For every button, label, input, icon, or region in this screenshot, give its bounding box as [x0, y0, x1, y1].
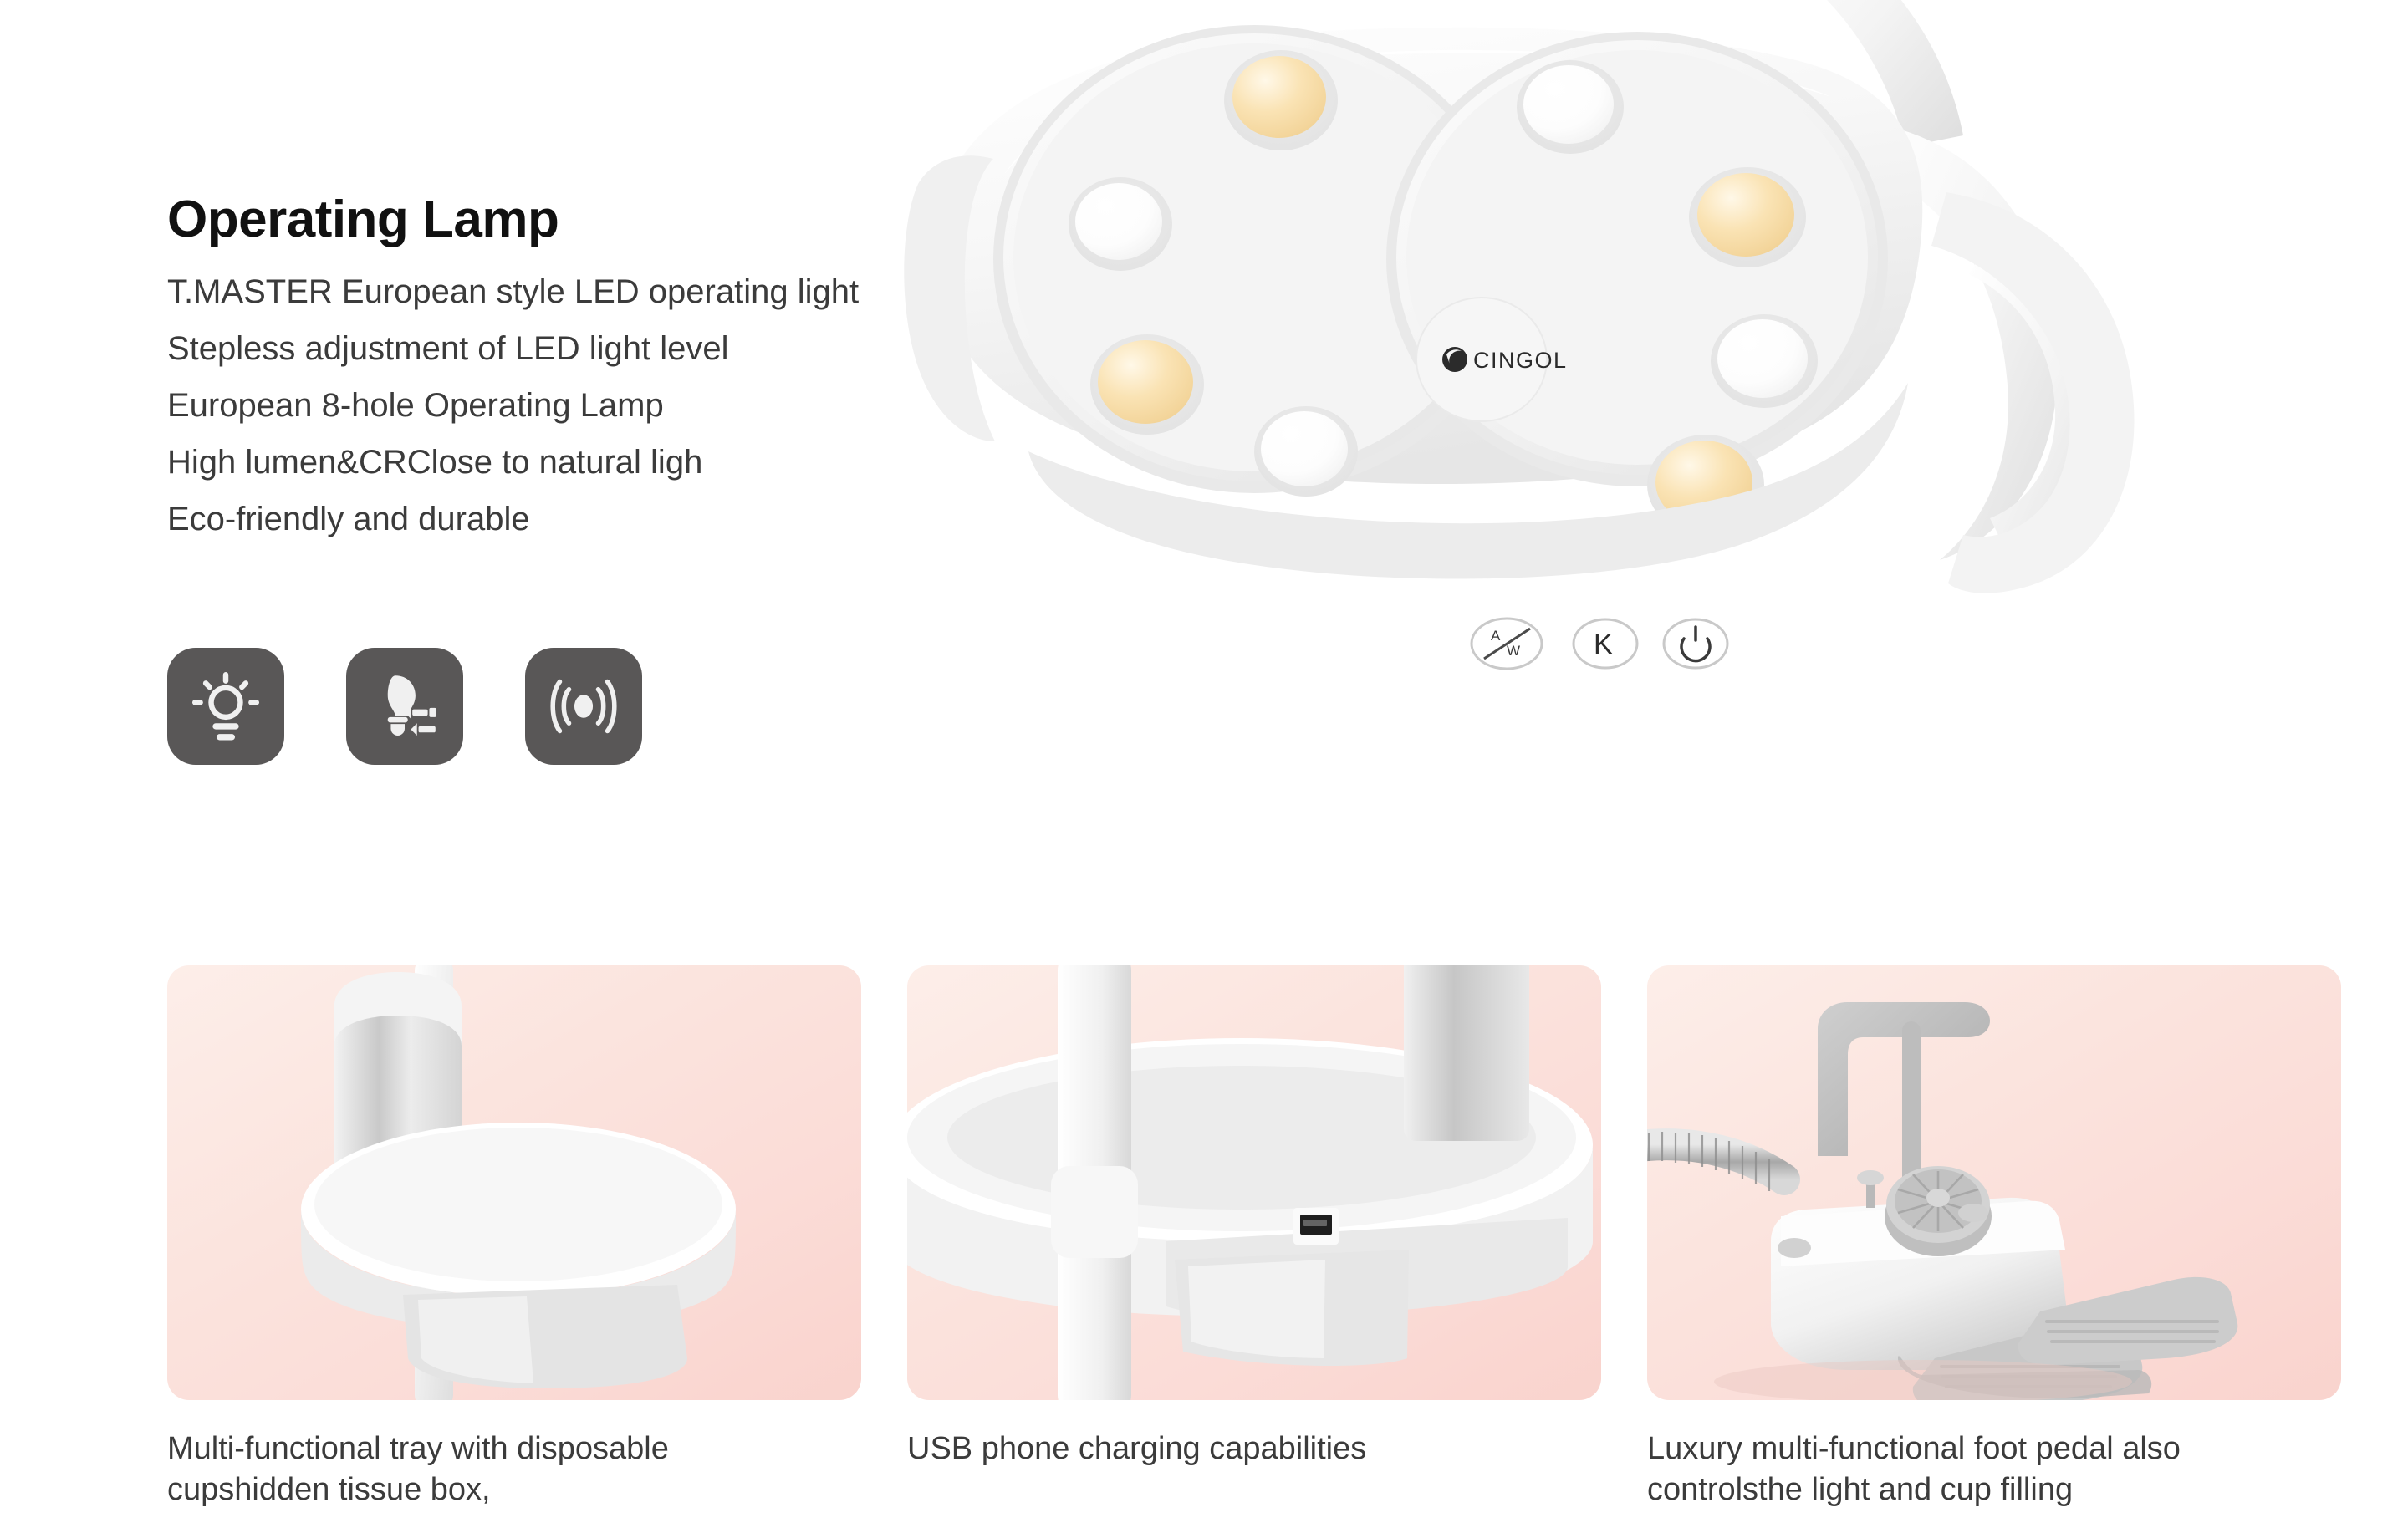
svg-text:K: K — [1594, 629, 1613, 660]
motion-sensor-icon — [525, 648, 642, 765]
feature-item: High lumen&CRClose to natural ligh — [167, 446, 1003, 479]
feature-list: T.MASTER European style LED operating li… — [167, 275, 1003, 536]
operating-lamp-photo: CINGOL A W K — [903, 0, 2408, 919]
info-block: Operating Lamp T.MASTER European style L… — [167, 192, 1003, 559]
feature-item: T.MASTER European style LED operating li… — [167, 275, 1003, 308]
feature-icon-row — [167, 648, 642, 765]
card-foot-pedal-photo — [1647, 965, 2341, 1400]
page-title: Operating Lamp — [167, 192, 1003, 247]
card-foot-pedal: Luxury multi-functional foot pedal also … — [1647, 965, 2341, 1510]
card-tray-photo — [167, 965, 861, 1400]
control-button-row: A W K — [1472, 619, 1727, 669]
feature-card-row: Multi-functional tray with disposable cu… — [167, 965, 2341, 1510]
feature-item: European 8-hole Operating Lamp — [167, 389, 1003, 422]
card-foot-pedal-caption: Luxury multi-functional foot pedal also … — [1647, 1429, 2308, 1510]
feature-item: Stepless adjustment of LED light level — [167, 332, 1003, 365]
brand-text: CINGOL — [1473, 348, 1568, 373]
card-tray-caption: Multi-functional tray with disposable cu… — [167, 1429, 828, 1510]
brand-logo-mark — [1442, 347, 1467, 372]
svg-text:W: W — [1507, 643, 1520, 659]
product-feature-page: Operating Lamp T.MASTER European style L… — [0, 0, 2408, 1538]
card-usb: USB phone charging capabilities — [907, 965, 1601, 1510]
card-usb-caption: USB phone charging capabilities — [907, 1429, 1568, 1469]
svg-text:A: A — [1491, 628, 1501, 644]
bulb-dimmer-icon — [346, 648, 463, 765]
glowing-bulb-icon — [167, 648, 284, 765]
feature-item: Eco-friendly and durable — [167, 502, 1003, 536]
card-usb-photo — [907, 965, 1601, 1400]
card-tray: Multi-functional tray with disposable cu… — [167, 965, 861, 1510]
